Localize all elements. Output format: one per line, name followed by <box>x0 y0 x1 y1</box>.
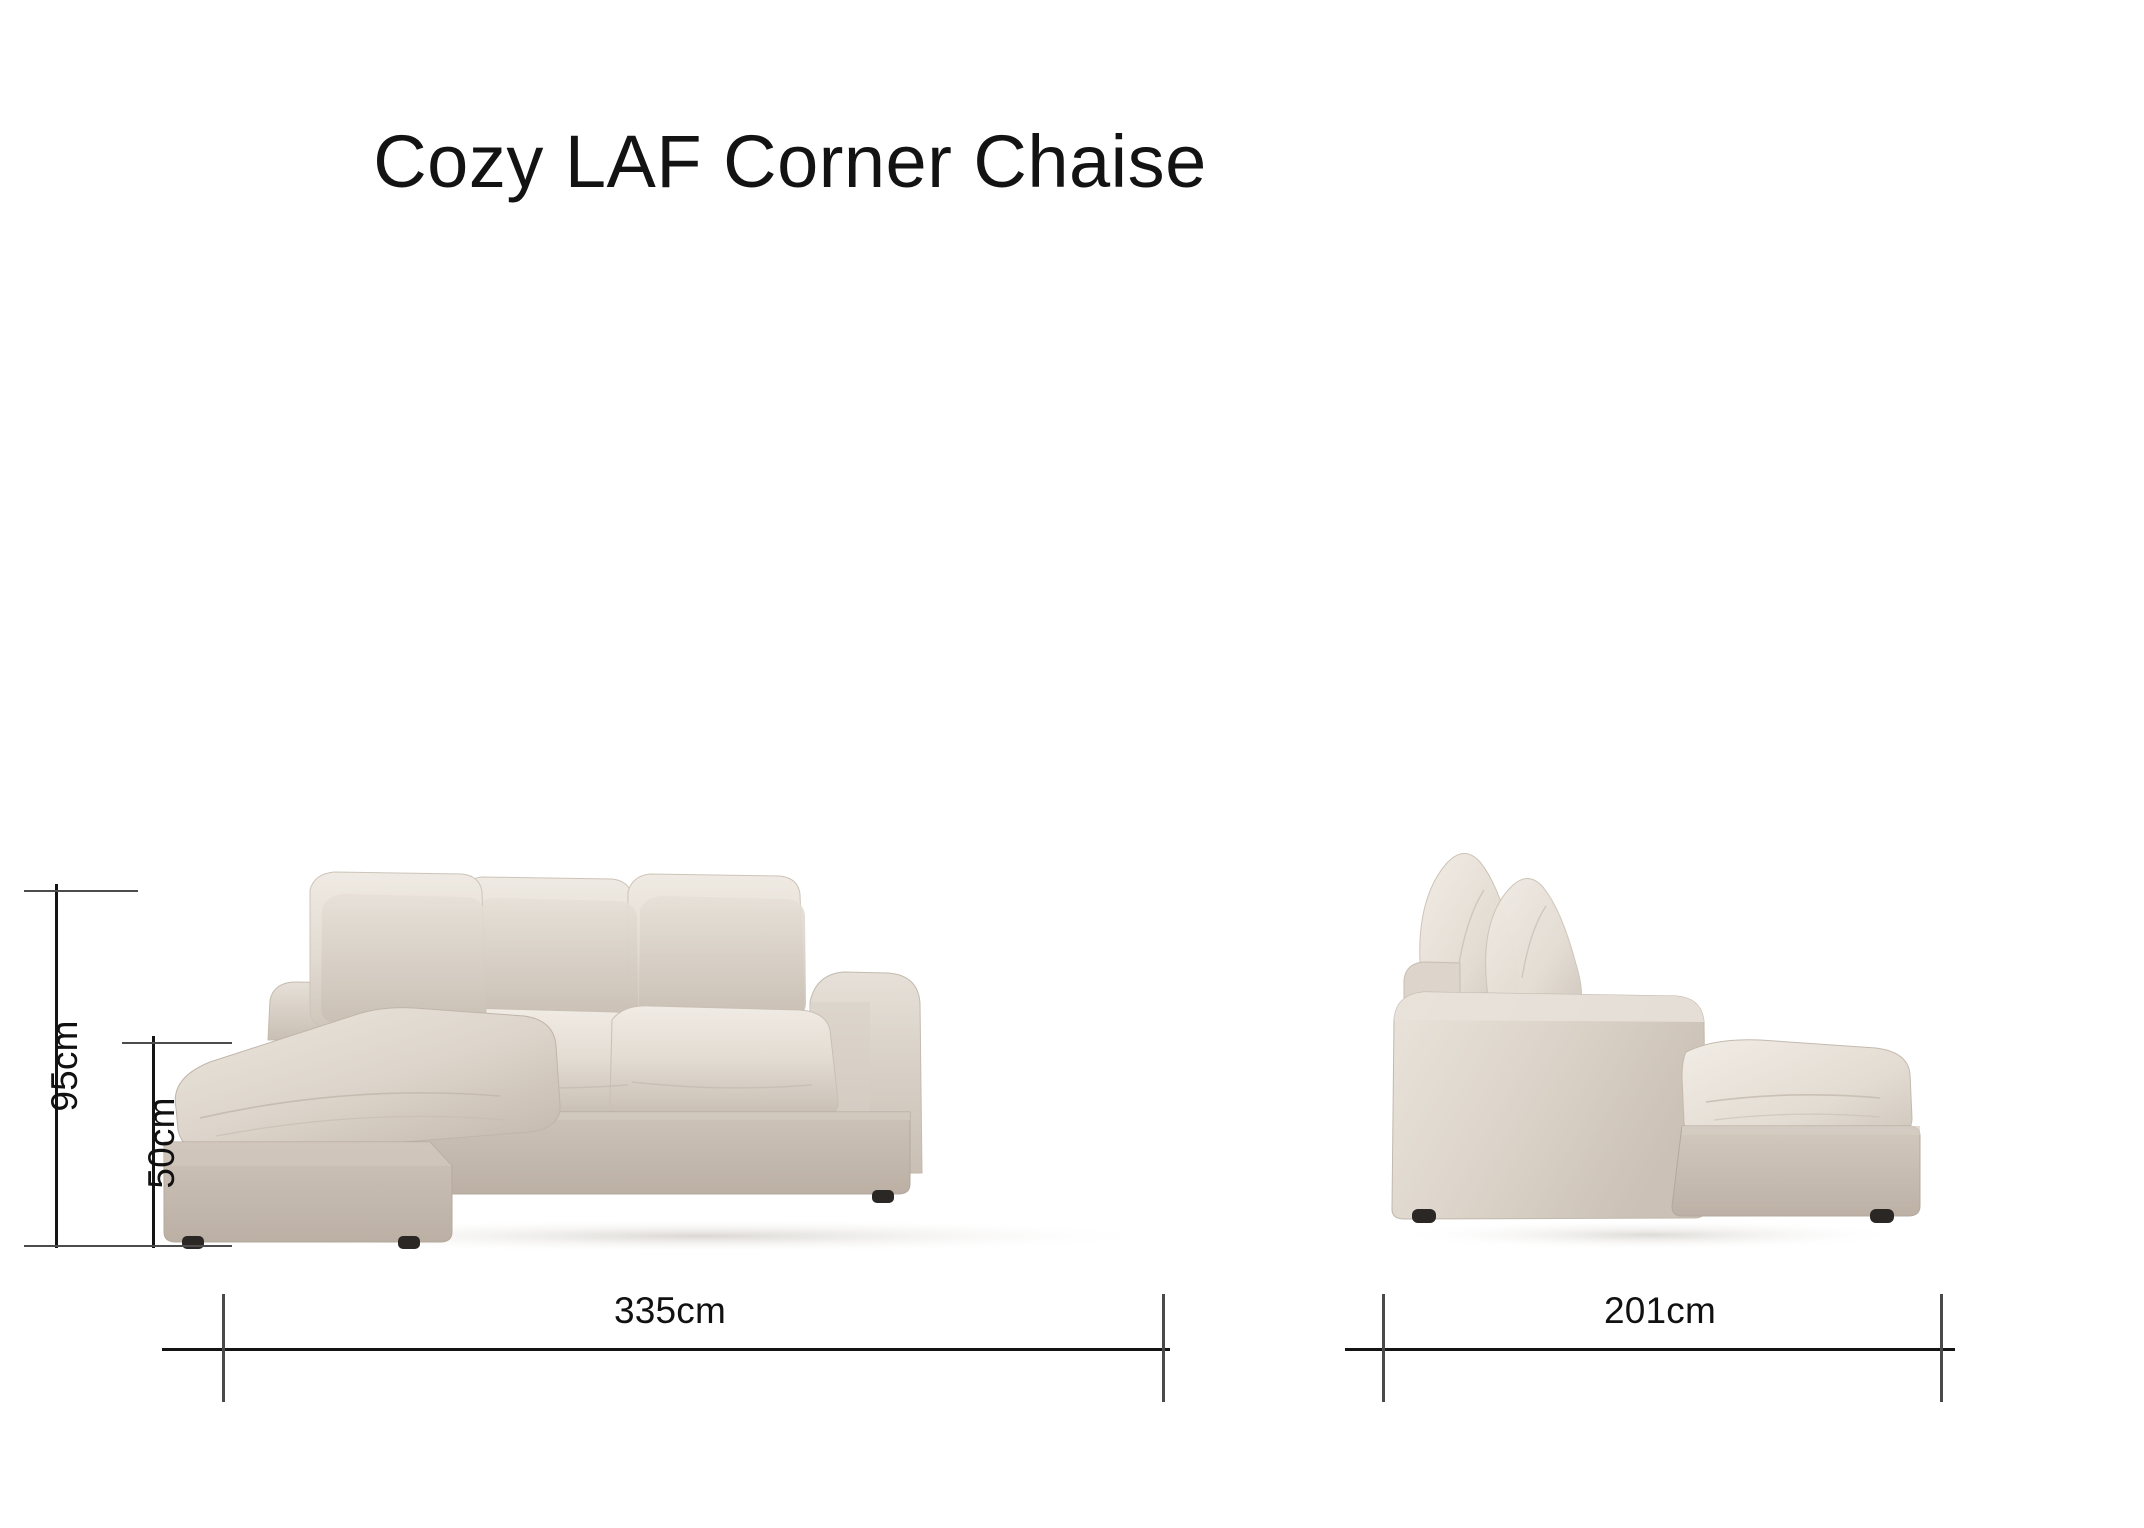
dimension-line-horizontal-201 <box>1345 1348 1955 1351</box>
dimension-tick-top-50 <box>122 1042 232 1044</box>
dimension-line-horizontal-335 <box>162 1348 1170 1351</box>
product-dimension-sheet: Cozy LAF Corner Chaise <box>0 0 2144 1528</box>
dimension-label-201cm: 201cm <box>1530 1290 1790 1332</box>
dimension-tick-bottom-50 <box>122 1245 232 1247</box>
dimension-label-335cm: 335cm <box>540 1290 800 1332</box>
dimension-tick-right-335 <box>1162 1294 1165 1402</box>
dimension-tick-left-335 <box>222 1294 225 1402</box>
dimension-label-95cm: 95cm <box>44 1011 86 1121</box>
dimension-tick-left-201 <box>1382 1294 1385 1402</box>
dimension-tick-bottom-95 <box>24 1245 138 1247</box>
front-view <box>160 850 1190 1250</box>
dimension-tick-top-95 <box>24 890 138 892</box>
dimension-label-50cm: 50cm <box>141 1088 183 1198</box>
dimension-tick-right-201 <box>1940 1294 1943 1402</box>
side-view <box>1370 820 1930 1250</box>
page-title: Cozy LAF Corner Chaise <box>0 125 1580 199</box>
